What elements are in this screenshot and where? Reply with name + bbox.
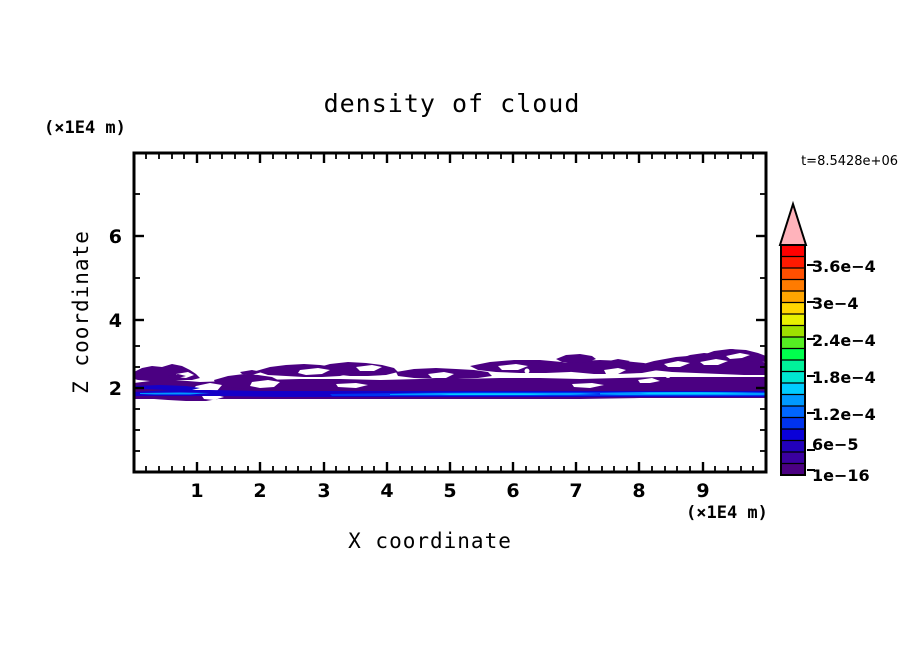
x-tick-label: 6 (506, 480, 519, 502)
y-tick-label: 2 (109, 378, 122, 400)
plot-area: 1 2 3 4 5 6 7 8 9 2 4 6 (109, 153, 766, 502)
x-tick-label: 9 (696, 480, 709, 502)
x-tick-label: 5 (443, 480, 456, 502)
colorbar-tick-label: 3e−4 (812, 294, 859, 313)
x-axis-unit-label: (×1E4 m) (686, 503, 768, 523)
time-annotation: t=8.5428e+06 (801, 154, 898, 169)
y-axis-title: Z coordinate (69, 230, 93, 394)
density-of-cloud-figure: density of cloud (×1E4 m) t=8.5428e+06 (0, 0, 904, 654)
x-tick-label: 2 (253, 480, 266, 502)
page-title: density of cloud (324, 89, 581, 118)
x-axis-title: X coordinate (348, 529, 512, 553)
colorbar-tick-label: 1e−16 (812, 466, 870, 485)
colorbar-tick-label: 3.6e−4 (812, 257, 876, 276)
y-axis-unit-label: (×1E4 m) (44, 118, 126, 138)
plot-background (134, 153, 766, 472)
colorbar-tick-label: 2.4e−4 (812, 331, 876, 350)
x-tick-label: 1 (190, 480, 203, 502)
y-tick-label: 6 (109, 226, 122, 248)
colorbar-tick-label: 1.8e−4 (812, 368, 876, 387)
colorbar-tick-label: 1.2e−4 (812, 405, 876, 424)
x-tick-label: 7 (569, 480, 582, 502)
x-tick-label: 3 (317, 480, 330, 502)
x-tick-label: 4 (380, 480, 393, 502)
x-tick-label: 8 (632, 480, 645, 502)
colorbar-tick-label: 6e−5 (812, 435, 859, 454)
y-tick-label: 4 (109, 310, 122, 332)
